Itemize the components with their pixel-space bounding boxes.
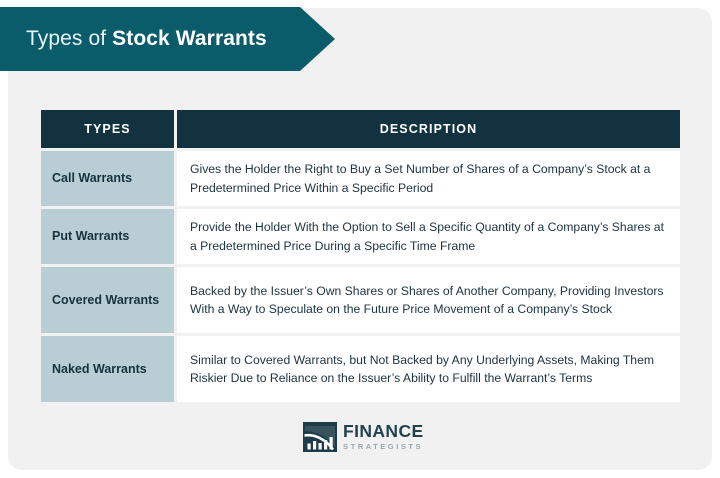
page-title-strong: Stock Warrants xyxy=(112,27,267,50)
cell-type: Covered Warrants xyxy=(41,267,174,333)
table-row: Call Warrants Gives the Holder the Right… xyxy=(41,151,680,206)
table-row: Naked Warrants Similar to Covered Warran… xyxy=(41,336,680,402)
cell-description: Provide the Holder With the Option to Se… xyxy=(177,209,680,264)
cell-description: Gives the Holder the Right to Buy a Set … xyxy=(177,151,680,206)
logo-name: FINANCE xyxy=(343,423,424,441)
cell-description: Similar to Covered Warrants, but Not Bac… xyxy=(177,336,680,402)
table-row: Covered Warrants Backed by the Issuer’s … xyxy=(41,267,680,333)
column-header-description: DESCRIPTION xyxy=(177,110,680,148)
finance-strategists-logo-icon xyxy=(303,422,337,452)
cell-description: Backed by the Issuer’s Own Shares or Sha… xyxy=(177,267,680,333)
title-banner: Types of Stock Warrants xyxy=(0,7,335,71)
table-row: Put Warrants Provide the Holder With the… xyxy=(41,209,680,264)
warrant-types-table: TYPES DESCRIPTION Call Warrants Gives th… xyxy=(41,110,680,405)
logo-subtitle: STRATEGISTS xyxy=(343,443,424,451)
page-title: Types of Stock Warrants xyxy=(26,27,267,51)
column-header-types: TYPES xyxy=(41,110,174,148)
cell-type: Put Warrants xyxy=(41,209,174,264)
infographic-page: Types of Stock Warrants TYPES DESCRIPTIO… xyxy=(0,0,720,478)
page-title-prefix: Types of xyxy=(26,27,112,50)
cell-type: Naked Warrants xyxy=(41,336,174,402)
logo-wordmark: FINANCE STRATEGISTS xyxy=(343,423,424,450)
cell-type: Call Warrants xyxy=(41,151,174,206)
brand-logo: FINANCE STRATEGISTS xyxy=(303,422,424,452)
table-header-row: TYPES DESCRIPTION xyxy=(41,110,680,148)
